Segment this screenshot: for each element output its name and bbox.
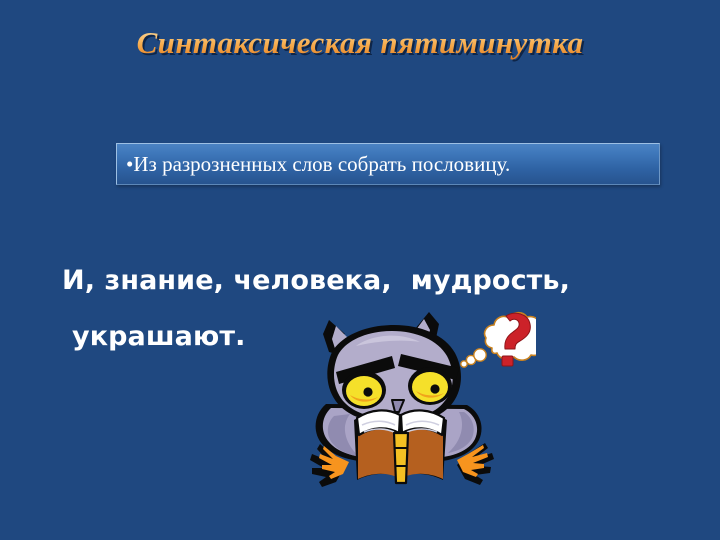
instruction-callout-text: •Из разрозненных слов собрать пословицу.: [117, 152, 510, 176]
owl-icon: [310, 312, 494, 487]
slide-canvas: Синтаксическая пятиминутка •Из разрознен…: [0, 0, 720, 540]
instruction-callout-box: •Из разрозненных слов собрать пословицу.: [116, 143, 660, 185]
page-title: Синтаксическая пятиминутка: [0, 23, 720, 63]
owl-reading-book-illustration: [296, 296, 536, 508]
thought-bubble-icon: [461, 313, 536, 368]
open-book-icon: [354, 410, 447, 483]
